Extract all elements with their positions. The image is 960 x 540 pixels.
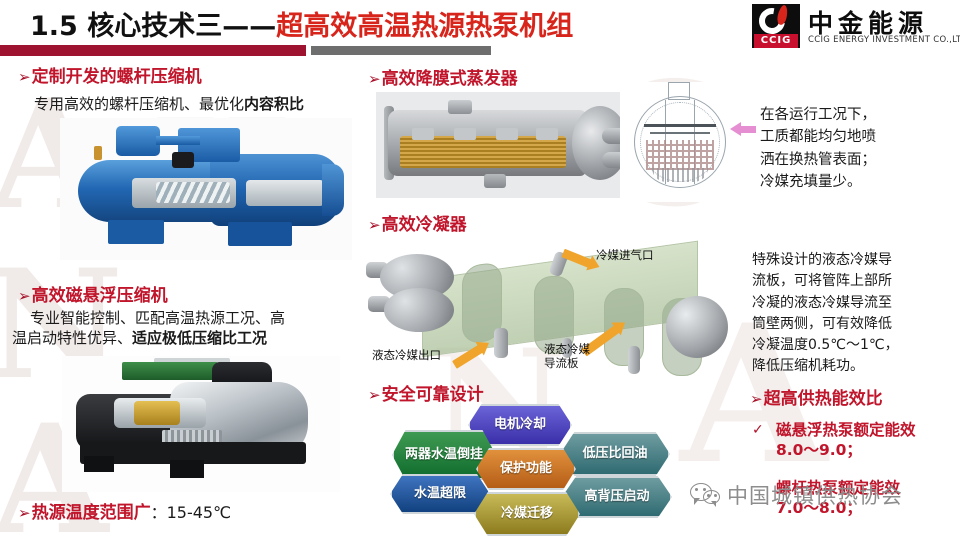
pink-arrow-icon [740,126,756,133]
label-liquid-outlet: 液态冷媒出口 [372,348,441,362]
image-screw-compressor [60,118,352,260]
hex-two-vessel-line2: 水温倒挂 [431,448,483,463]
text-screw-compressor: 专用高效的螺杆压缩机、最优化内容积比 [34,94,304,115]
note-evaporator-line3: 洒在换热管表面； [760,152,876,168]
cop-item-maglev-line1: 磁悬浮热泵额定能效 [776,421,916,439]
image-evaporator-cross-section [620,82,740,202]
logo-company-en: CCIG ENERGY INVESTMENT CO.,LTD [808,35,960,45]
company-logo: CCIG 中金能源 CCIG ENERGY INVESTMENT CO.,LTD [752,2,952,50]
value-source-temp-range: ：15-45℃ [151,503,231,522]
cop-item-screw: 螺杆热泵额定能效 7.0～8.0； [776,478,900,518]
note-condenser-line4: 筒壁两侧，可有效降低 [752,316,892,332]
note-evaporator-line4: 冷媒充填量少。 [760,174,862,190]
heading-screw-compressor-text: 定制开发的螺杆压缩机 [32,67,202,87]
cop-item-screw-line2: 7.0～8.0； [776,499,862,517]
hex-water-temp-over[interactable]: 水温超限 [390,474,490,514]
page-title-prefix: 1.5 核心技术三—— [30,11,276,42]
bullet-arrow-icon: ➢ [18,287,31,305]
logo-ccig-badge: CCIG [754,34,798,48]
page-title: 1.5 核心技术三——超高效高温热源热泵机组 [30,4,573,43]
heading-safety-text: 安全可靠设计 [382,385,484,405]
note-condenser-line6: 降低压缩机耗功。 [752,358,864,374]
bullet-arrow-icon: ➢ [368,216,381,234]
hex-low-ratio-oil[interactable]: 低压比回油 [560,432,670,476]
note-condenser: 特殊设计的液态冷媒导 流板，可将管阵上部所 冷凝的液态冷媒导流至 筒壁两侧，可有… [752,250,899,378]
bullet-arrow-icon: ➢ [18,68,31,86]
heading-evaporator-text: 高效降膜式蒸发器 [382,69,518,89]
note-condenser-line3: 冷凝的液态冷媒导流至 [752,295,892,311]
note-evaporator: 在各运行工况下， 工质都能均匀地喷 洒在换热管表面； 冷媒充填量少。 [760,104,876,194]
heading-maglev-compressor-text: 高效磁悬浮压缩机 [32,286,168,306]
header-divider-red [0,45,306,56]
note-evaporator-line2: 工质都能均匀地喷 [760,129,876,145]
cop-item-maglev-line2: 8.0～9.0； [776,441,862,459]
heading-source-temp-range: ➢热源温度范围广：15-45℃ [18,498,231,523]
bullet-arrow-icon: ➢ [368,70,381,88]
slide-header: 1.5 核心技术三——超高效高温热源热泵机组 CCIG 中金能源 CCIG EN… [0,0,960,58]
bullet-arrow-icon: ➢ [368,386,381,404]
note-condenser-line5: 冷凝温度0.5℃～1℃， [752,337,899,353]
text-maglev-line1: 专业智能控制、匹配高温热源工况、高 [30,308,285,329]
heading-maglev-compressor: ➢高效磁悬浮压缩机 [18,281,168,306]
heading-cop: ➢超高供热能效比 [750,384,883,409]
cop-item-screw-line1: 螺杆热泵额定能效 [776,479,900,497]
text-screw-bold: 内容积比 [244,95,304,113]
note-condenser-line2: 流板，可将管阵上部所 [752,273,892,289]
text-screw-normal: 专用高效的螺杆压缩机、最优化 [34,95,244,113]
note-evaporator-line1: 在各运行工况下， [760,107,876,123]
wechat-icon [690,483,720,507]
label-baffle: 液态冷媒 导流板 [544,342,590,371]
text-maglev-line2: 温启动特性优异、适应极低压缩比工况 [12,328,267,349]
bullet-arrow-icon: ➢ [18,504,31,522]
check-icon-1: ✓ [752,422,764,438]
note-condenser-line1: 特殊设计的液态冷媒导 [752,252,892,268]
page-title-highlight: 超高效高温热源热泵机组 [276,11,573,42]
hex-protection[interactable]: 保护功能 [476,448,576,490]
text-maglev-normal: 温启动特性优异、 [12,329,132,347]
safety-hex-diagram: 电机冷却 两器 水温倒挂 低压比回油 保护功能 水温超限 高背压启动 冷媒迁移 [368,404,688,540]
heading-screw-compressor: ➢定制开发的螺杆压缩机 [18,62,202,87]
label-baffle-line2: 导流板 [544,356,579,370]
heading-falling-film-evaporator: ➢高效降膜式蒸发器 [368,64,518,89]
heading-safety-design: ➢安全可靠设计 [368,380,484,405]
hex-two-vessel-line1: 两器 [405,448,431,463]
label-baffle-line1: 液态冷媒 [544,342,590,356]
image-evaporator [376,92,636,198]
heading-cop-text: 超高供热能效比 [764,389,883,409]
hex-refrig-migration[interactable]: 冷媒迁移 [474,492,580,536]
image-maglev-compressor [62,356,340,492]
heading-condenser-text: 高效冷凝器 [382,215,467,235]
label-gas-inlet: 冷媒进气口 [596,248,654,262]
cop-item-maglev: 磁悬浮热泵额定能效 8.0～9.0； [776,420,916,460]
heading-condenser: ➢高效冷凝器 [368,210,467,235]
heading-source-temp-text: 热源温度范围广 [32,503,151,523]
header-divider-gray [311,46,491,55]
text-maglev-bold: 适应极低压缩比工况 [132,329,267,347]
bullet-arrow-icon: ➢ [750,390,763,408]
